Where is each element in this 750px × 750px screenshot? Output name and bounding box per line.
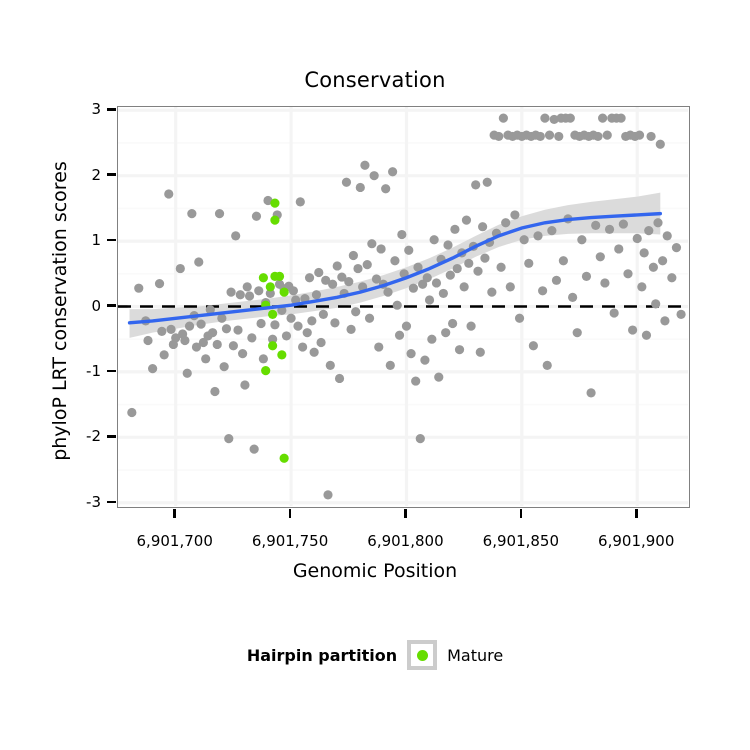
data-point [164,189,173,198]
data-point [275,272,284,281]
data-point [245,291,254,300]
data-point [289,286,298,295]
data-point [270,216,279,225]
data-point [194,257,203,266]
data-point [293,322,302,331]
data-point [596,252,605,261]
data-point [628,325,637,334]
data-point [360,161,369,170]
data-point [344,277,353,286]
data-point [390,256,399,265]
data-point [280,454,289,463]
x-tick-label: 6,901,900 [566,532,706,550]
data-point [582,272,591,281]
data-point [395,331,404,340]
data-point [591,221,600,230]
data-point [453,264,462,273]
data-point [356,183,365,192]
data-point [363,260,372,269]
data-point [236,290,245,299]
x-tick-mark [635,509,638,518]
data-point [328,280,337,289]
data-point [434,373,443,382]
data-point [196,320,205,329]
data-point [185,322,194,331]
data-point [450,225,459,234]
data-point [319,310,328,319]
data-point [600,278,609,287]
data-point [559,256,568,265]
data-point [314,268,323,277]
data-point [388,167,397,176]
data-point [305,273,314,282]
data-point [649,263,658,272]
data-point [210,387,219,396]
data-point [480,253,489,262]
data-point [231,231,240,240]
data-point [462,216,471,225]
data-point [286,314,295,323]
data-point [598,114,607,123]
data-point [316,338,325,347]
data-point [672,243,681,252]
data-point [552,276,561,285]
data-point [381,184,390,193]
x-tick-mark [520,509,523,518]
data-point [238,349,247,358]
data-point [310,348,319,357]
data-point [605,225,614,234]
data-point [282,331,291,340]
x-tick-mark [404,509,407,518]
data-point [603,131,612,140]
data-point [259,354,268,363]
data-point [280,288,289,297]
data-point [312,290,321,299]
data-point [180,336,189,345]
data-point [515,314,524,323]
data-point [464,259,473,268]
data-point [533,231,542,240]
data-point [637,282,646,291]
data-point [222,324,231,333]
data-point [268,341,277,350]
data-point [157,327,166,336]
conservation-scatter-plot: Conservation phyloP LRT conservation sco… [0,0,750,750]
data-point [633,234,642,243]
data-point [439,289,448,298]
data-point [277,350,286,359]
data-point [333,261,342,270]
data-point [160,350,169,359]
data-point [441,328,450,337]
dot-icon [417,650,428,661]
data-point [243,282,252,291]
data-point [586,388,595,397]
series-mature [259,199,289,463]
data-point [346,325,355,334]
data-point [155,279,164,288]
data-point [406,349,415,358]
data-point [261,366,270,375]
data-point [233,325,242,334]
data-point [353,264,362,273]
data-point [658,256,667,265]
data-point [430,235,439,244]
legend-label-mature: Mature [447,646,503,665]
data-point [487,288,496,297]
data-point [374,342,383,351]
data-point [425,295,434,304]
data-point [143,336,152,345]
data-point [510,210,519,219]
data-point [376,244,385,253]
data-point [656,140,665,149]
data-point [229,341,238,350]
data-point [554,132,563,141]
data-point [266,282,275,291]
data-point [471,180,480,189]
data-point [176,264,185,273]
data-point [566,114,575,123]
data-point [448,319,457,328]
data-point [187,209,196,218]
data-point [501,218,510,227]
legend: Hairpin partition Mature [0,640,750,670]
data-point [365,314,374,323]
data-point [651,299,660,308]
data-point [420,356,429,365]
data-point [409,284,418,293]
legend-key-mature[interactable] [407,640,437,670]
data-point [240,380,249,389]
data-point [201,354,210,363]
data-point [660,316,669,325]
data-point [540,114,549,123]
data-point [259,273,268,282]
data-point [496,263,505,272]
data-point [402,322,411,331]
data-point [224,434,233,443]
data-point [443,240,452,249]
data-point [367,239,376,248]
data-point [256,319,265,328]
data-point [646,132,655,141]
data-point [370,171,379,180]
data-point [247,333,256,342]
data-point [476,348,485,357]
data-point [252,212,261,221]
data-point [635,131,644,140]
data-point [397,230,406,239]
data-point [478,222,487,231]
data-point [349,251,358,260]
data-point [296,197,305,206]
data-point [393,301,402,310]
data-point [460,282,469,291]
data-point [506,282,515,291]
data-point [568,293,577,302]
data-point [326,361,335,370]
data-point [270,320,279,329]
data-point [499,114,508,123]
data-point [404,246,413,255]
data-point [220,362,229,371]
data-point [640,248,649,257]
x-tick-mark [173,509,176,518]
data-point [323,490,332,499]
data-point [183,369,192,378]
data-point [213,340,222,349]
data-point [536,132,545,141]
data-point [270,199,279,208]
data-point [250,444,259,453]
data-point [330,318,339,327]
data-point [423,273,432,282]
data-point [148,364,157,373]
data-point [383,288,392,297]
plot-canvas [118,107,688,506]
data-point [663,231,672,240]
data-point [644,226,653,235]
data-point [303,328,312,337]
data-point [642,331,651,340]
data-point [386,361,395,370]
data-point [577,235,586,244]
data-point [524,259,533,268]
data-point [455,345,464,354]
plot-panel [117,106,690,508]
data-point [593,132,602,141]
legend-title: Hairpin partition [247,646,397,665]
data-point [676,310,685,319]
data-point [623,269,632,278]
data-point [545,131,554,140]
data-point [529,341,538,350]
data-point [342,178,351,187]
data-point [614,244,623,253]
data-point [446,271,455,280]
data-point [610,308,619,317]
data-point [667,273,676,282]
data-point [307,316,316,325]
data-point [254,286,263,295]
data-point [166,325,175,334]
data-point [335,374,344,383]
data-point [208,328,217,337]
data-point [215,209,224,218]
data-point [298,342,307,351]
data-point [619,219,628,228]
data-point [226,288,235,297]
data-point [494,132,503,141]
data-point [473,267,482,276]
data-point [134,284,143,293]
data-point [520,235,529,244]
data-point [616,114,625,123]
data-point [268,310,277,319]
data-point [432,278,441,287]
data-point [127,408,136,417]
data-point [466,322,475,331]
data-point [653,218,662,227]
data-point [483,178,492,187]
data-point [427,335,436,344]
data-point [543,361,552,370]
x-tick-mark [289,509,292,518]
data-point [416,434,425,443]
data-point [351,307,360,316]
data-point [573,328,582,337]
data-point [547,226,556,235]
data-point [411,376,420,385]
data-point [538,286,547,295]
